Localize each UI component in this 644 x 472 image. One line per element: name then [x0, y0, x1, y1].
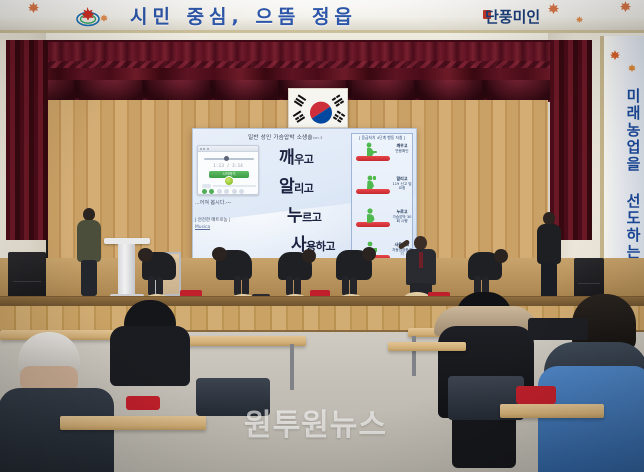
stage-curtain-valance — [6, 40, 592, 70]
cpr-step-2: 알리고 119 신고 및 요청 — [354, 173, 412, 201]
cpr-step-3: 누르고 가슴압박 30회 시행 — [354, 206, 412, 234]
cpr-step-1: 깨우고 반응확인 — [354, 140, 412, 168]
stage-curtain-left — [6, 40, 48, 240]
slide-caption-3: Musica — [195, 225, 210, 230]
timecode-label: 1:13 / 3:14 — [198, 164, 258, 169]
equipment-case — [528, 318, 588, 340]
progress-slider-icon — [204, 158, 254, 160]
photo-scene: 시민 중심, 으뜸 정읍 단풍미인 미래농업을 선도하는 정읍 — [0, 0, 644, 472]
maple-leaf-icon — [610, 50, 620, 60]
maple-leaf-icon — [628, 64, 636, 72]
pa-speaker-left — [8, 252, 46, 300]
stage-curtain-right — [550, 40, 592, 240]
training-desk — [60, 416, 206, 430]
news-watermark: 원투원뉴스 — [244, 405, 414, 447]
red-first-aid-kit — [126, 396, 160, 410]
maple-leaf-decoration-icon — [100, 14, 108, 22]
maple-leaf-decoration-icon — [28, 2, 39, 13]
banner-slogan: 시민 중심, 으뜸 정읍 — [130, 3, 460, 31]
slide-caption-2: | 안전한 매트로놈 | — [195, 217, 230, 223]
training-desk — [388, 342, 466, 351]
maple-leaf-decoration-icon — [576, 16, 583, 23]
cpr-step-3-label: 누르고 가슴압박 30회 시행 — [392, 210, 412, 224]
slider-knob — [224, 156, 229, 161]
audience-member-seated — [4, 332, 114, 472]
banner-calligraphy: 단풍미인 — [485, 5, 555, 29]
window-controls-row — [202, 184, 256, 188]
hall-top-banner: 시민 중심, 으뜸 정읍 단풍미인 — [0, 0, 644, 33]
cpr-chest-compression-icon — [364, 208, 378, 223]
taegukgi-korean-flag — [288, 88, 348, 128]
podium-column — [118, 244, 135, 296]
training-desk — [186, 336, 306, 346]
desk-leg — [290, 344, 294, 390]
audience-member-seated — [106, 300, 194, 398]
window-titlebar — [198, 146, 258, 152]
cpr-call-119-icon — [364, 175, 378, 190]
maple-leaf-logo-icon — [76, 6, 100, 27]
training-desk — [500, 404, 604, 418]
assistant-standing-left — [76, 208, 102, 298]
cpr-step-2-label: 알리고 119 신고 및 요청 — [392, 177, 412, 191]
slide-caption-1: ...어져 봅시다.--- — [195, 199, 231, 206]
media-player-window-icon: 1:13 / 3:14 시작하기 — [197, 145, 259, 195]
cpr-step-1-label: 깨우고 반응확인 — [392, 144, 412, 153]
maple-leaf-decoration-icon — [620, 1, 631, 12]
cpr-check-response-icon — [364, 142, 378, 157]
assistant-standing-right — [536, 212, 562, 302]
red-first-aid-kit — [516, 386, 556, 404]
maple-leaf-decoration-icon — [548, 3, 559, 14]
projection-screen: 일반 성인 가슴압박 소생술ver.3 깨우고 알리고 누르고 사용하고 1:1… — [192, 128, 417, 268]
metronome-beat-dots — [202, 189, 256, 194]
